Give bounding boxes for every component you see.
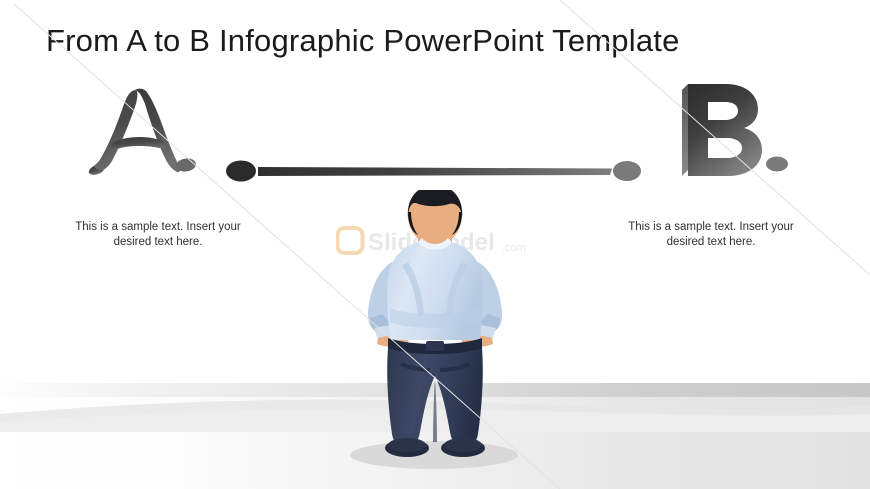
a-to-b-connector — [224, 156, 644, 186]
slide-canvas: From A to B Infographic PowerPoint Templ… — [0, 0, 870, 489]
letter-a-mark — [88, 82, 198, 180]
businessman-illustration — [330, 190, 545, 480]
letter-b-mark — [672, 82, 790, 180]
connector-start-dot — [226, 161, 256, 182]
caption-right: This is a sample text. Insert your desir… — [626, 220, 796, 250]
page-title: From A to B Infographic PowerPoint Templ… — [46, 23, 680, 59]
connector-end-dot — [613, 161, 641, 181]
connector-line — [258, 167, 612, 176]
character-shadow — [350, 441, 518, 469]
caption-left: This is a sample text. Insert your desir… — [73, 220, 243, 250]
